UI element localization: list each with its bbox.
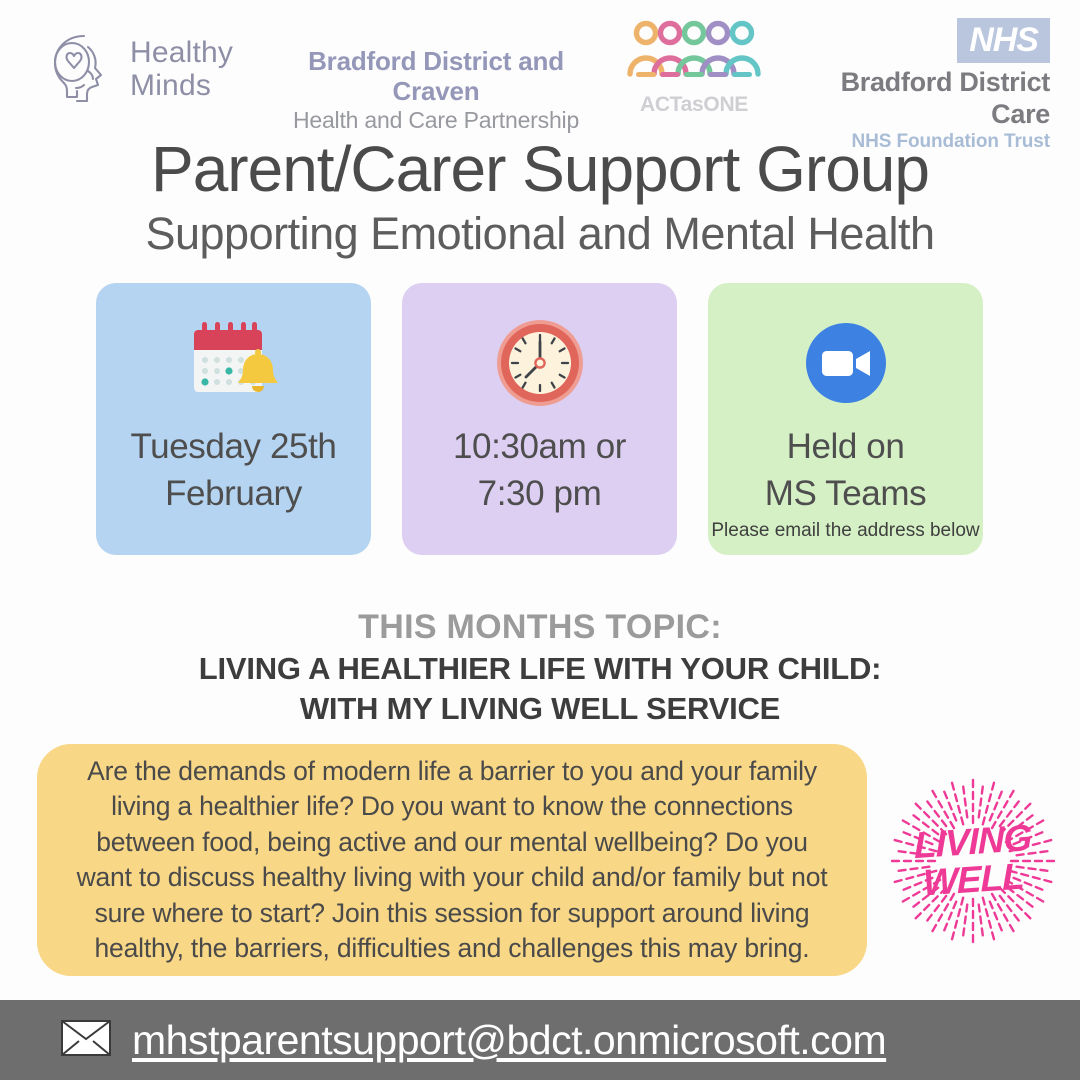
time-card: 10:30am or7:30 pm [402,283,677,555]
living-well-line2: WELL [922,858,1023,901]
page-subtitle: Supporting Emotional and Mental Health [0,207,1080,261]
date-card: Tuesday 25thFebruary [96,283,371,555]
act-as-one-label: ACTasONE [624,93,764,117]
info-cards: Tuesday 25thFebruary [0,283,1080,555]
topic-label: THIS MONTHS TOPIC: [0,605,1080,649]
logo-bar: Healthy Minds Bradford District and Crav… [0,0,1080,118]
date-card-text: Tuesday 25thFebruary [123,423,345,517]
living-well-logo: LIVING WELL [876,766,1070,956]
bradford-craven-line2: Health and Care Partnership [262,106,610,134]
location-card-text: Held onMS Teams [757,423,934,517]
nhs-line1: Bradford District Care [782,66,1050,130]
location-card-note: Please email the address below [711,519,979,543]
page-title: Parent/Carer Support Group [0,133,1080,205]
topic-line-2: WITH MY LIVING WELL SERVICE [0,688,1080,729]
healthy-minds-label: Healthy Minds [130,36,233,102]
description-text: Are the demands of modern life a barrier… [67,754,837,967]
clock-icon [494,315,586,411]
bradford-craven-line1: Bradford District and Craven [262,46,610,106]
description-box: Are the demands of modern life a barrier… [37,744,867,976]
footer-bar: mhstparentsupport@bdct.onmicrosoft.com [0,1000,1080,1080]
act-as-one-logo: ACTasONE [624,18,764,117]
five-people-rings-icon [624,77,764,94]
living-well-label: LIVING WELL [876,766,1070,956]
topic-line-1: LIVING A HEALTHIER LIFE WITH YOUR CHILD: [0,648,1080,689]
calendar-bell-icon [186,315,282,411]
location-card: Held onMS Teams Please email the address… [708,283,983,555]
bradford-craven-logo: Bradford District and Craven Health and … [262,46,610,134]
poster-canvas: Healthy Minds Bradford District and Crav… [0,0,1080,1080]
nhs-badge: NHS [957,18,1050,63]
time-card-text: 10:30am or7:30 pm [445,423,634,517]
contact-email[interactable]: mhstparentsupport@bdct.onmicrosoft.com [132,1016,886,1064]
envelope-icon [60,1019,112,1062]
video-camera-icon [804,315,888,411]
healthy-minds-logo: Healthy Minds [44,28,233,109]
head-heart-icon [44,28,120,109]
